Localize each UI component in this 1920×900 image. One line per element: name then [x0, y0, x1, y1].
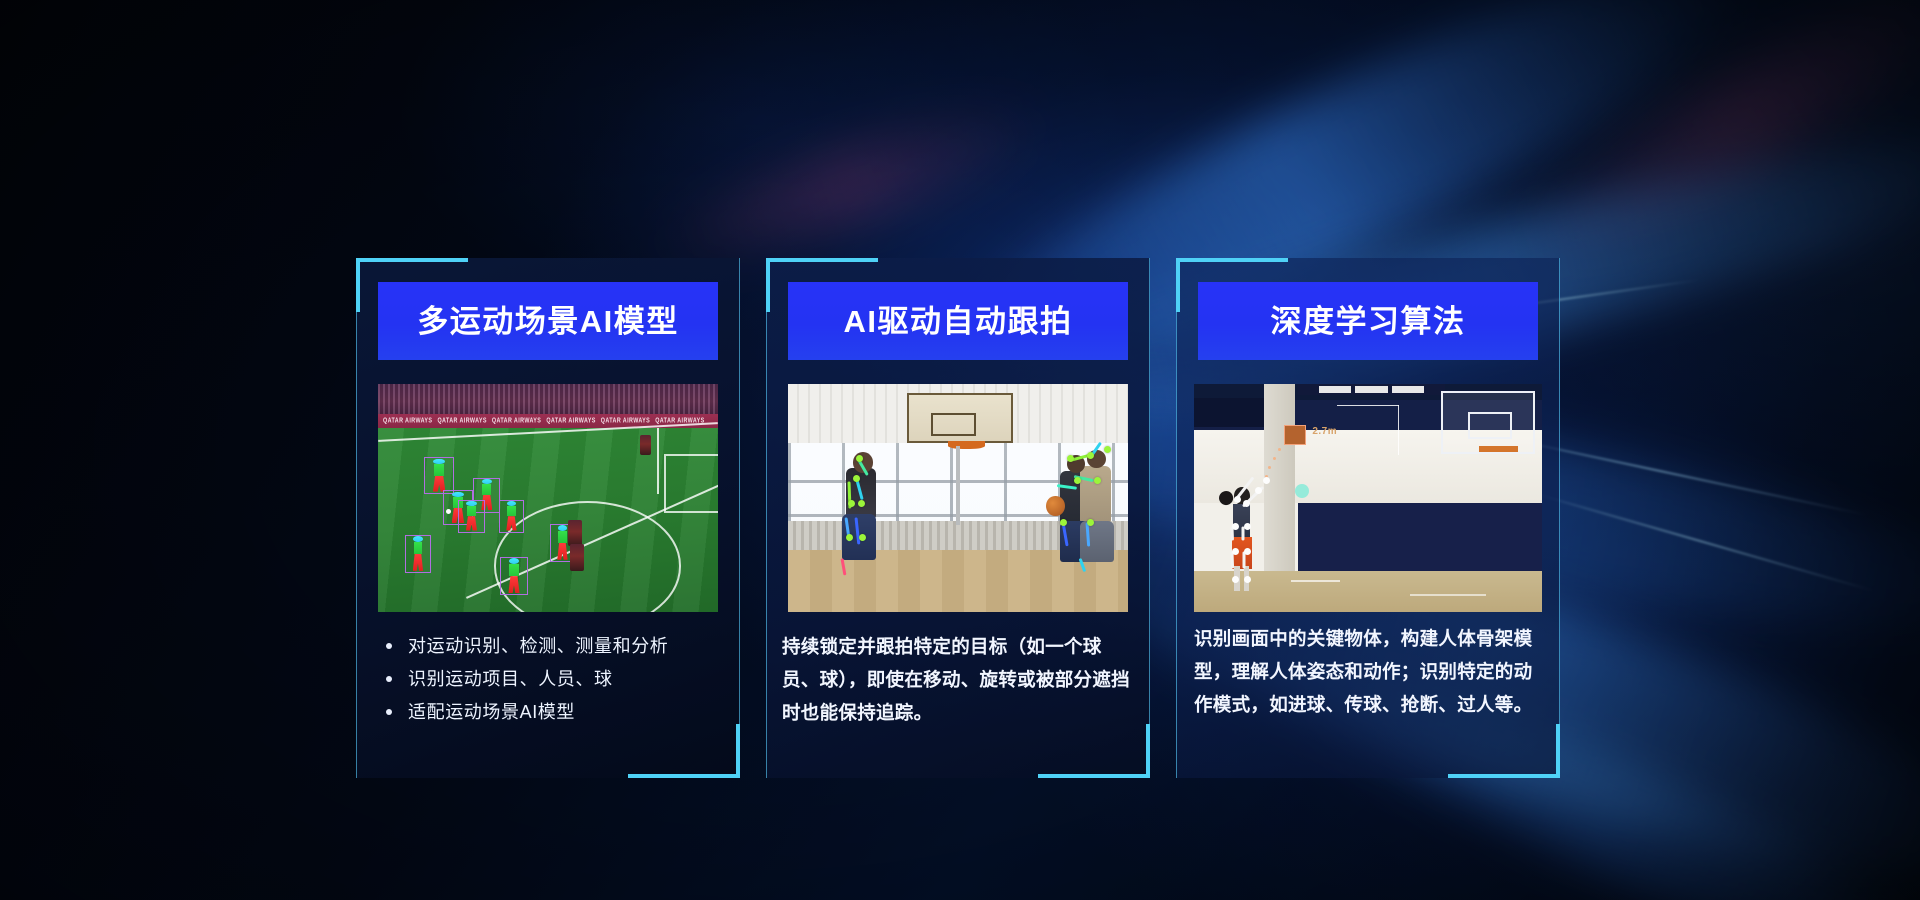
card-body: 持续锁定并跟拍特定的目标（如一个球员、球），即使在移动、旋转或被部分遮挡时也能保…	[782, 630, 1136, 729]
corner-bracket-bottom-right-icon	[1448, 774, 1560, 778]
corner-bracket-bottom-right-icon	[1038, 774, 1150, 778]
corner-bracket-bottom-right-icon	[628, 774, 740, 778]
corner-bracket-bottom-right-icon	[736, 724, 740, 778]
card-right-rail	[1149, 258, 1150, 778]
feature-card-row: 多运动场景AI模型 QATAR AIRWAYS QATAR AIRWAYS QA…	[356, 258, 1560, 778]
card-body: 对运动识别、检测、测量和分析 识别运动项目、人员、球 适配运动场景AI模型	[378, 630, 722, 729]
card-left-rail	[766, 258, 767, 778]
list-item: 适配运动场景AI模型	[378, 696, 722, 729]
soccer-pose-detection-image: QATAR AIRWAYS QATAR AIRWAYS QATAR AIRWAY…	[378, 384, 718, 612]
corner-bracket-top-left-icon	[1176, 258, 1180, 312]
card-left-rail	[1176, 258, 1177, 778]
card-header-bar: 多运动场景AI模型	[378, 282, 718, 360]
card-right-rail	[739, 258, 740, 778]
corner-bracket-bottom-right-icon	[1146, 724, 1150, 778]
corner-bracket-top-left-icon	[766, 258, 770, 312]
feature-card-deep-learning-algorithm[interactable]: 深度学习算法 2.7m	[1176, 258, 1560, 778]
gym-basketball-pose-image	[788, 384, 1128, 612]
list-item: 识别运动项目、人员、球	[378, 663, 722, 696]
list-item: 对运动识别、检测、测量和分析	[378, 630, 722, 663]
card-description: 识别画面中的关键物体，构建人体骨架模型，理解人体姿态和动作；识别特定的动作模式，…	[1194, 622, 1546, 721]
card-title: 深度学习算法	[1271, 306, 1466, 337]
card-right-rail	[1559, 258, 1560, 778]
corner-bracket-top-left-icon	[356, 258, 468, 262]
card-header-bar: AI驱动自动跟拍	[788, 282, 1128, 360]
corner-bracket-top-left-icon	[356, 258, 360, 312]
card-body: 识别画面中的关键物体，构建人体骨架模型，理解人体姿态和动作；识别特定的动作模式，…	[1194, 622, 1546, 721]
corner-bracket-top-left-icon	[1176, 258, 1288, 262]
card-title: AI驱动自动跟拍	[844, 306, 1073, 337]
court-shot-tracking-image: 2.7m	[1194, 384, 1542, 612]
card-title: 多运动场景AI模型	[417, 306, 679, 337]
feature-card-ai-auto-tracking[interactable]: AI驱动自动跟拍	[766, 258, 1150, 778]
feature-card-multi-sport-ai-model[interactable]: 多运动场景AI模型 QATAR AIRWAYS QATAR AIRWAYS QA…	[356, 258, 740, 778]
corner-bracket-bottom-right-icon	[1556, 724, 1560, 778]
card-description: 持续锁定并跟拍特定的目标（如一个球员、球），即使在移动、旋转或被部分遮挡时也能保…	[782, 630, 1136, 729]
stadium-ad-banner-text: QATAR AIRWAYS	[378, 417, 432, 425]
card-left-rail	[356, 258, 357, 778]
card-header-bar: 深度学习算法	[1198, 282, 1538, 360]
feature-bullet-list: 对运动识别、检测、测量和分析 识别运动项目、人员、球 适配运动场景AI模型	[378, 630, 722, 729]
corner-bracket-top-left-icon	[766, 258, 878, 262]
